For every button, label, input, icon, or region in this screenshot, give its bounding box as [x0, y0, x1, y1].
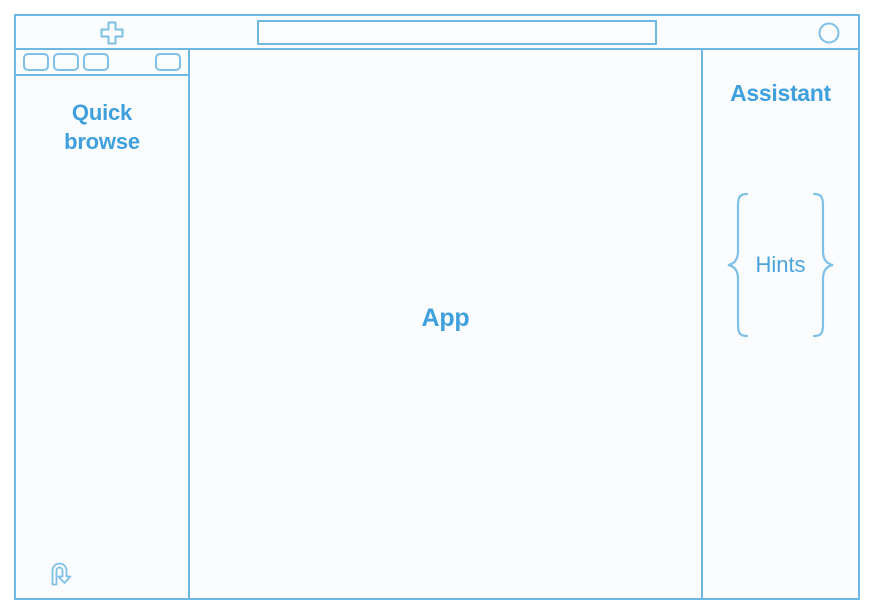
window-frame: Quick browse App Assistant	[14, 14, 860, 600]
assistant-panel: Assistant Hints	[703, 50, 858, 598]
app-title: App	[422, 304, 470, 333]
sidebar-tool-button-2[interactable]	[53, 53, 79, 71]
sidebar-panel: Quick browse	[16, 50, 190, 598]
title-bar	[16, 16, 858, 50]
search-input[interactable]	[257, 20, 657, 45]
sidebar-tool-button-3[interactable]	[83, 53, 109, 71]
sidebar-content: Quick browse	[16, 76, 188, 598]
add-tab-icon[interactable]	[97, 18, 127, 48]
window-body: Quick browse App Assistant	[16, 50, 858, 598]
app-main-panel: App	[190, 50, 703, 598]
quick-browse-title: Quick browse	[37, 98, 167, 157]
right-curly-brace-icon	[810, 191, 836, 339]
u-turn-arrow-icon[interactable]	[48, 558, 78, 588]
sidebar-toolbar	[16, 50, 188, 76]
circle-avatar-icon[interactable]	[818, 22, 840, 44]
sidebar-tool-button-4[interactable]	[155, 53, 181, 71]
hints-group: Hints	[703, 190, 858, 340]
left-curly-brace-icon	[725, 191, 751, 339]
hints-label: Hints	[751, 252, 809, 278]
sidebar-tool-button-1[interactable]	[23, 53, 49, 71]
assistant-title: Assistant	[730, 80, 831, 107]
